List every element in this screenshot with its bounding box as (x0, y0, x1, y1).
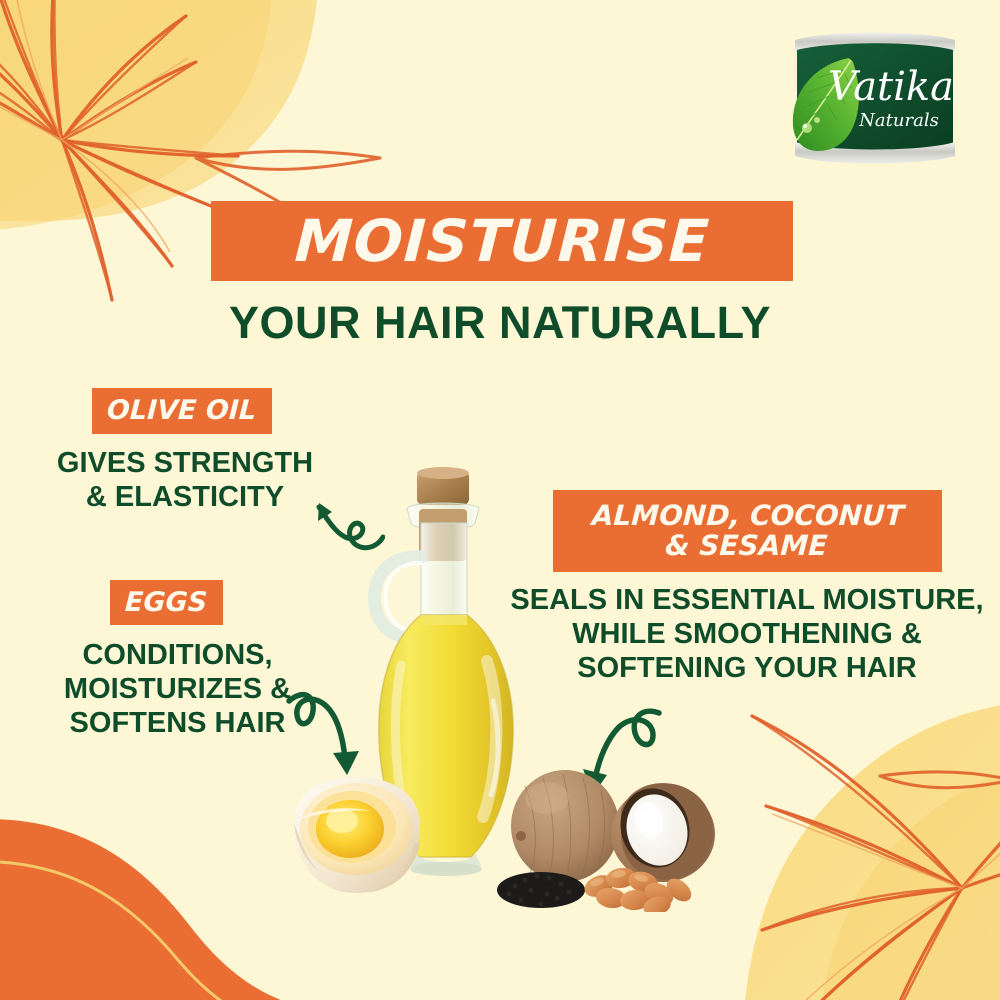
svg-text:Naturals: Naturals (858, 110, 939, 131)
poster-canvas: Vatika Naturals MOISTURISE YOUR HAIR NAT… (0, 0, 1000, 1000)
feature-label-olive-oil: OLIVE OIL (92, 388, 272, 434)
feature-description-olive-oil: GIVES STRENGTH & ELASTICITY (40, 447, 330, 515)
cracked-egg-image (288, 775, 428, 900)
headline-banner: MOISTURISE (211, 201, 793, 281)
feature-label-eggs: EGGS (110, 580, 223, 625)
coconut-almond-sesame-image (497, 762, 732, 912)
headline-text: MOISTURISE (293, 212, 711, 270)
vatika-logo: Vatika Naturals (789, 28, 961, 168)
feature-label-text: EGGS (125, 588, 209, 617)
feature-label-almond-coconut-sesame: ALMOND, COCONUT & SESAME (553, 490, 942, 572)
feature-label-text: ALMOND, COCONUT & SESAME (590, 501, 905, 561)
feature-description-eggs: CONDITIONS, MOISTURIZES & SOFTENS HAIR (40, 639, 315, 741)
svg-text:Vatika: Vatika (828, 64, 954, 110)
feature-label-text: OLIVE OIL (107, 396, 258, 425)
feature-description-almond-coconut-sesame: SEALS IN ESSENTIAL MOISTURE, WHILE SMOOT… (497, 584, 997, 686)
headline-subtitle: YOUR HAIR NATURALLY (0, 297, 1000, 349)
